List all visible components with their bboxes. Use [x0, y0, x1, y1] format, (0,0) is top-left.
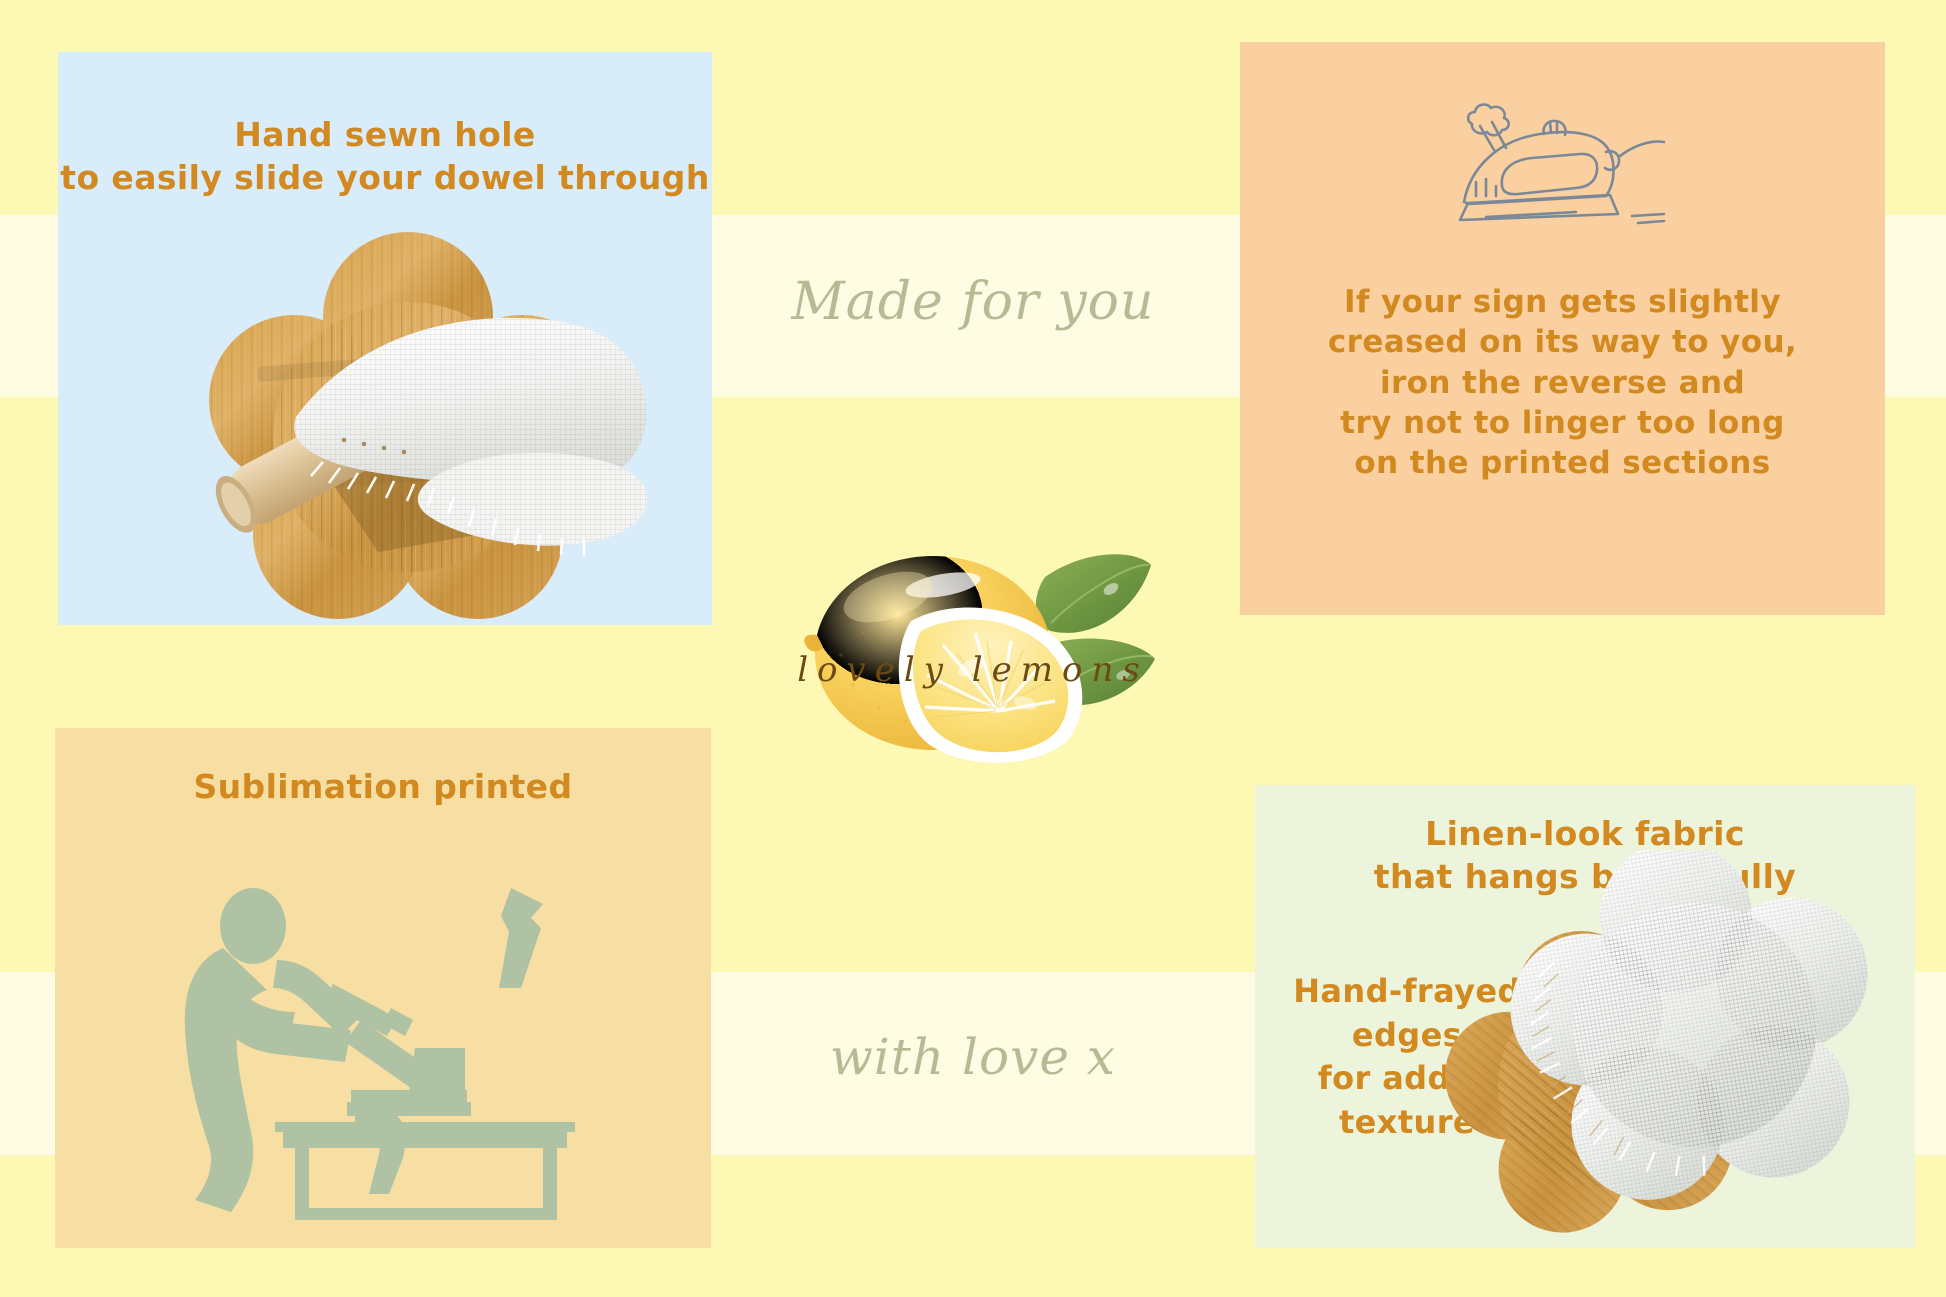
- script-with-love: with love x: [0, 1028, 1946, 1086]
- ironing-line-4: try not to linger too long: [1240, 403, 1885, 443]
- collage-canvas: Hand sewn hole to easily slide your dowe…: [0, 0, 1946, 1297]
- sublimation-title: Sublimation printed: [55, 766, 711, 809]
- panel-sublimation-printed[interactable]: Sublimation printed: [55, 728, 711, 1248]
- panel-hand-sewn-hole[interactable]: Hand sewn hole to easily slide your dowe…: [58, 52, 712, 625]
- brand-wordmark: lovely lemons: [0, 650, 1946, 690]
- script-made-for-you: Made for you: [0, 272, 1946, 332]
- ironing-line-3: iron the reverse and: [1240, 363, 1885, 403]
- steam-iron-icon: [1440, 90, 1670, 230]
- hand-sewn-caption: Hand sewn hole to easily slide your dowe…: [58, 114, 712, 200]
- panel-linen-look[interactable]: Linen-look fabric that hangs beautifully…: [1255, 785, 1915, 1248]
- sublimation-caption: Sublimation printed: [55, 766, 711, 809]
- hand-sewn-line-2: to easily slide your dowel through: [58, 157, 712, 200]
- hand-sewn-line-1: Hand sewn hole: [58, 114, 712, 157]
- ironing-line-5: on the printed sections: [1240, 443, 1885, 483]
